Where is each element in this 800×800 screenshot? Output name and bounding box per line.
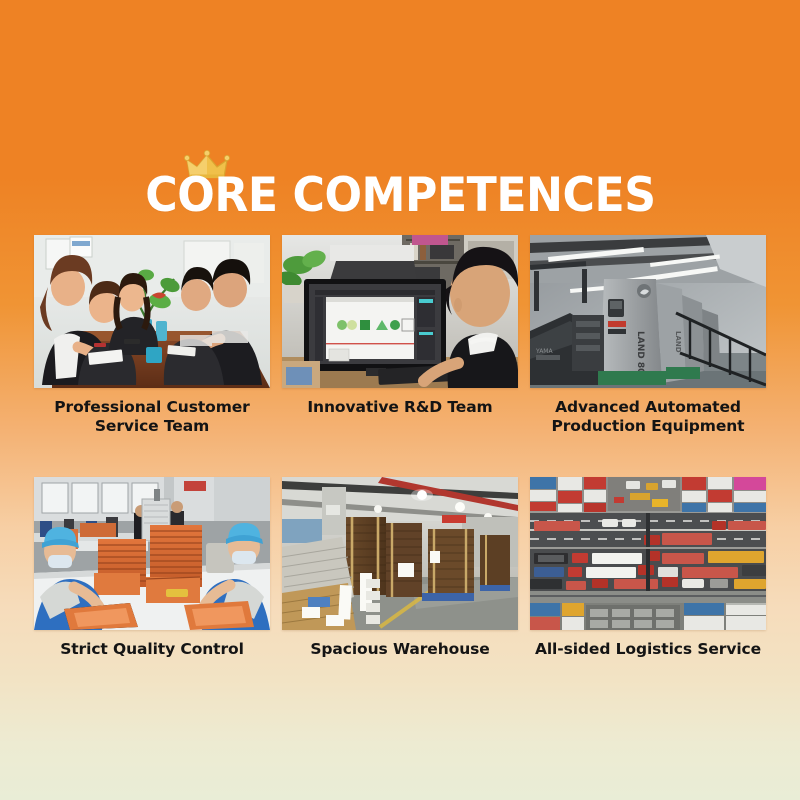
card-spacious-warehouse[interactable]: Spacious Warehouse: [276, 477, 524, 659]
caption-line-1: Spacious Warehouse: [310, 640, 489, 658]
card-innovative-rd-team[interactable]: Innovative R&D Team: [276, 235, 524, 436]
card-caption: Spacious Warehouse: [282, 630, 518, 659]
card-caption: Innovative R&D Team: [282, 388, 518, 417]
card-all-sided-logistics-service[interactable]: All-sided Logistics Service: [524, 477, 772, 659]
competences-grid: Professional Customer Service Team: [28, 235, 772, 659]
card-caption: All-sided Logistics Service: [530, 630, 766, 659]
caption-line-1: Advanced Automated: [555, 398, 741, 416]
card-caption: Advanced Automated Production Equipment: [530, 388, 766, 436]
caption-line-2: Production Equipment: [551, 417, 744, 435]
page-title: CORE COMPETENCES: [145, 150, 655, 224]
card-caption: Strict Quality Control: [34, 630, 270, 659]
thumbnail-printing-press-factory: LAND 800 LAND YAMA: [530, 235, 766, 388]
thumbnail-aerial-container-port: [530, 477, 766, 630]
card-caption: Professional Customer Service Team: [34, 388, 270, 436]
card-professional-customer-service-team[interactable]: Professional Customer Service Team: [28, 235, 276, 436]
caption-line-1: All-sided Logistics Service: [535, 640, 761, 658]
thumbnail-quality-inspection-workers: [34, 477, 270, 630]
card-strict-quality-control[interactable]: Strict Quality Control: [28, 477, 276, 659]
thumbnail-designer-at-computer: [282, 235, 518, 388]
svg-text:LAND: LAND: [674, 331, 682, 353]
thumbnail-office-meeting: [34, 235, 270, 388]
caption-line-1: Innovative R&D Team: [307, 398, 492, 416]
card-advanced-automated-production-equipment[interactable]: LAND 800 LAND YAMA: [524, 235, 772, 436]
page-title-block: CORE COMPETENCES: [0, 150, 800, 224]
thumbnail-warehouse-pallets: [282, 477, 518, 630]
caption-line-1: Strict Quality Control: [60, 640, 244, 658]
caption-line-1: Professional Customer: [54, 398, 249, 416]
caption-line-2: Service Team: [95, 417, 209, 435]
svg-text:YAMA: YAMA: [535, 348, 553, 355]
